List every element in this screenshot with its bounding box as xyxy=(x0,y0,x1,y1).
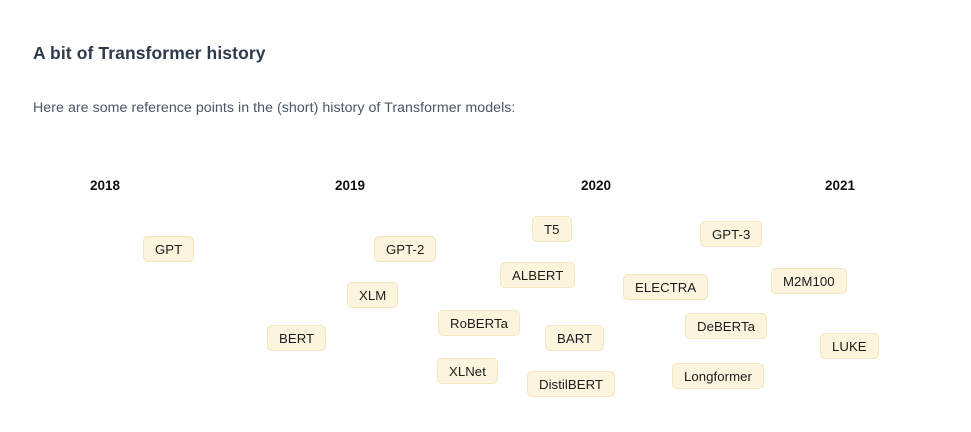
model-box-distilbert: DistilBERT xyxy=(527,371,615,397)
year-label-2020: 2020 xyxy=(581,178,611,193)
model-box-gpt: GPT xyxy=(143,236,194,262)
model-box-longformer: Longformer xyxy=(672,363,764,389)
model-box-xlnet: XLNet xyxy=(437,358,498,384)
model-box-albert: ALBERT xyxy=(500,262,575,288)
year-label-2021: 2021 xyxy=(825,178,855,193)
model-box-gpt-2: GPT-2 xyxy=(374,236,436,262)
transformer-history-timeline: 2018201920202021GPTGPT-2T5GPT-3ALBERTM2M… xyxy=(0,0,971,432)
model-box-roberta: RoBERTa xyxy=(438,310,520,336)
model-box-luke: LUKE xyxy=(820,333,879,359)
page-root: A bit of Transformer history Here are so… xyxy=(0,0,971,432)
model-box-gpt-3: GPT-3 xyxy=(700,221,762,247)
model-box-m2m100: M2M100 xyxy=(771,268,847,294)
model-box-bert: BERT xyxy=(267,325,326,351)
model-box-bart: BART xyxy=(545,325,604,351)
model-box-xlm: XLM xyxy=(347,282,398,308)
model-box-t5: T5 xyxy=(532,216,572,242)
year-label-2018: 2018 xyxy=(90,178,120,193)
model-box-deberta: DeBERTa xyxy=(685,313,767,339)
model-box-electra: ELECTRA xyxy=(623,274,708,300)
year-label-2019: 2019 xyxy=(335,178,365,193)
